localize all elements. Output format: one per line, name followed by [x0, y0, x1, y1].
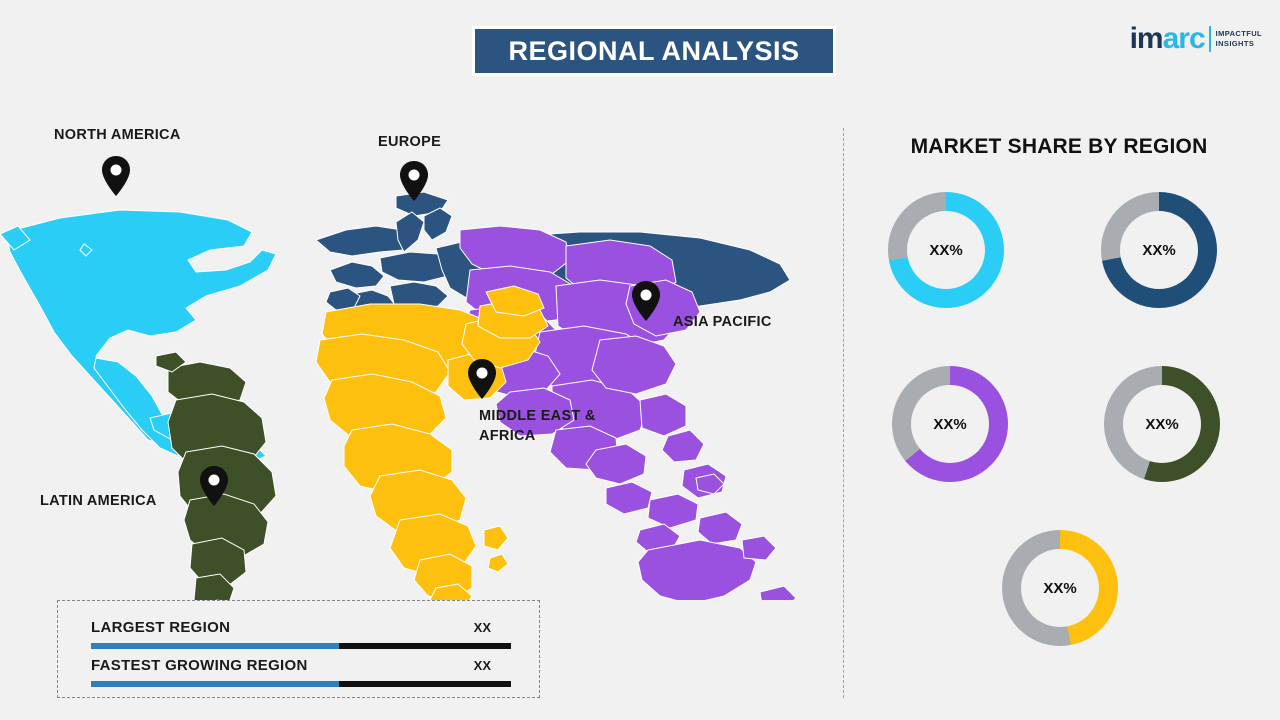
region-label-europe: EUROPE: [378, 133, 441, 153]
legend-value-largest-region: XX: [474, 620, 491, 635]
legend-bar-fill-largest-region: [91, 643, 339, 649]
donut-chart-europe: XX%: [1101, 192, 1217, 308]
map-pin-europe[interactable]: [398, 160, 430, 202]
legend-bar-fill-fastest-growing-region: [91, 681, 339, 687]
legend-bar-largest-region: [91, 643, 511, 649]
legend-value-fastest-growing-region: XX: [474, 658, 491, 673]
market-share-title: MARKET SHARE BY REGION: [884, 135, 1234, 159]
legend-row-fastest-growing-region: FASTEST GROWING REGION XX: [91, 657, 511, 675]
world-map-panel: [0, 100, 820, 600]
logo-wordmark-part2: arc: [1163, 22, 1205, 55]
donut-hole-middle-east-africa: XX%: [1021, 549, 1099, 627]
panel-divider: [843, 128, 844, 698]
donut-hole-north-america: XX%: [907, 211, 985, 289]
map-pin-asia-pacific[interactable]: [630, 280, 662, 322]
map-pin-north-america[interactable]: [100, 155, 132, 197]
donut-value-north-america: XX%: [929, 242, 962, 259]
donut-hole-asia-pacific: XX%: [911, 385, 989, 463]
donut-value-latin-america: XX%: [1145, 416, 1178, 433]
region-label-asia-pacific: ASIA PACIFIC: [673, 313, 772, 333]
region-label-middle-east-africa: MIDDLE EAST & AFRICA: [479, 407, 596, 446]
logo-tagline: IMPACTFUL INSIGHTS: [1216, 29, 1262, 49]
logo-divider-bar: [1209, 26, 1211, 52]
page-title-banner: REGIONAL ANALYSIS: [472, 26, 836, 76]
donut-hole-latin-america: XX%: [1123, 385, 1201, 463]
donut-value-asia-pacific: XX%: [933, 416, 966, 433]
region-label-latin-america: LATIN AMERICA: [40, 492, 157, 512]
donut-value-europe: XX%: [1142, 242, 1175, 259]
page-title: REGIONAL ANALYSIS: [508, 36, 799, 67]
legend-box: LARGEST REGION XX FASTEST GROWING REGION…: [57, 600, 540, 698]
imarc-logo: imarc IMPACTFUL INSIGHTS: [1130, 24, 1262, 54]
map-pin-middle-east-africa[interactable]: [466, 358, 498, 400]
logo-wordmark: imarc: [1130, 24, 1205, 54]
legend-label-largest-region: LARGEST REGION: [91, 619, 230, 636]
donut-chart-asia-pacific: XX%: [892, 366, 1008, 482]
donut-hole-europe: XX%: [1120, 211, 1198, 289]
region-label-north-america: NORTH AMERICA: [54, 126, 181, 146]
donut-chart-north-america: XX%: [888, 192, 1004, 308]
donut-chart-latin-america: XX%: [1104, 366, 1220, 482]
legend-row-largest-region: LARGEST REGION XX: [91, 619, 511, 637]
logo-tagline-line2: INSIGHTS: [1216, 39, 1262, 49]
legend-label-fastest-growing-region: FASTEST GROWING REGION: [91, 657, 308, 674]
logo-tagline-line1: IMPACTFUL: [1216, 29, 1262, 39]
legend-bar-fastest-growing-region: [91, 681, 511, 687]
donut-chart-middle-east-africa: XX%: [1002, 530, 1118, 646]
donut-value-middle-east-africa: XX%: [1043, 580, 1076, 597]
map-pin-latin-america[interactable]: [198, 465, 230, 507]
logo-wordmark-part1: im: [1130, 22, 1163, 55]
